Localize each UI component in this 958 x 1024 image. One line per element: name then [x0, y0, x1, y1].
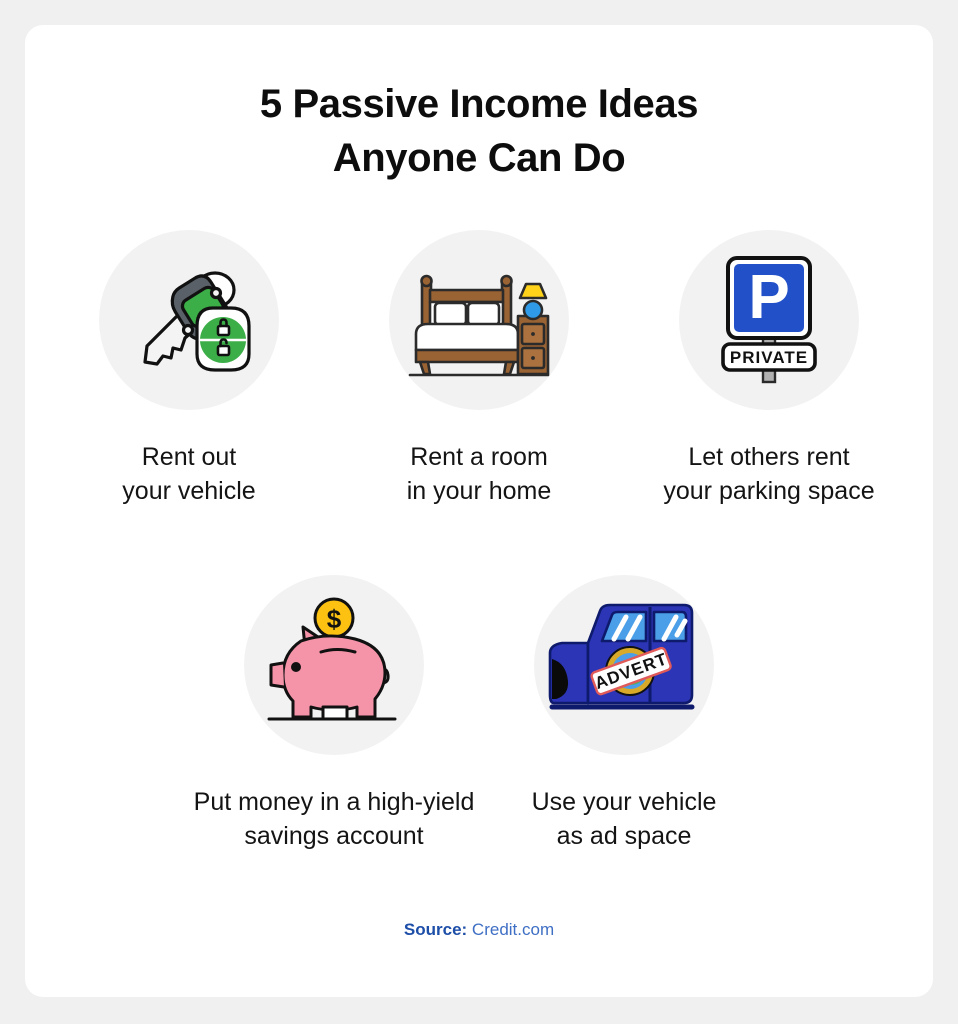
caption-line-2: savings account: [194, 819, 475, 853]
parking-sign-icon: P PRIVATE: [679, 230, 859, 410]
car-key-icon: [99, 230, 279, 410]
parking-letter: P: [748, 263, 789, 332]
caption-line-1: Let others rent: [663, 440, 874, 474]
idea-caption: Rent out your vehicle: [122, 440, 255, 508]
caption-line-1: Rent out: [122, 440, 255, 474]
source-label: Source:: [404, 920, 467, 939]
title-line-2: Anyone Can Do: [25, 131, 933, 185]
source-value[interactable]: Credit.com: [472, 920, 554, 939]
parking-plate-text: PRIVATE: [730, 348, 808, 367]
idea-card-rent-room: Rent a room in your home: [334, 230, 624, 508]
page-title: 5 Passive Income Ideas Anyone Can Do: [25, 77, 933, 185]
infographic-card: 5 Passive Income Ideas Anyone Can Do: [25, 25, 933, 997]
title-line-1: 5 Passive Income Ideas: [25, 77, 933, 131]
caption-line-2: your vehicle: [122, 474, 255, 508]
coin-symbol: $: [327, 604, 342, 634]
caption-line-1: Rent a room: [407, 440, 552, 474]
caption-line-2: in your home: [407, 474, 552, 508]
idea-card-parking-space: P PRIVATE Let others rent your parking s…: [624, 230, 914, 508]
caption-line-1: Use your vehicle: [532, 785, 717, 819]
idea-caption: Rent a room in your home: [407, 440, 552, 508]
car-advert-icon: ADVERT: [534, 575, 714, 755]
idea-card-savings-account: $: [189, 575, 479, 853]
ideas-row-2: $: [25, 575, 933, 853]
idea-caption: Let others rent your parking space: [663, 440, 874, 508]
caption-line-2: as ad space: [532, 819, 717, 853]
ideas-row-1: Rent out your vehicle: [25, 230, 933, 508]
idea-caption: Put money in a high-yield savings accoun…: [194, 785, 475, 853]
source-credit: Source: Credit.com: [25, 920, 933, 940]
idea-card-car-ad-space: ADVERT Use your vehicle as ad space: [479, 575, 769, 853]
piggy-bank-icon: $: [244, 575, 424, 755]
idea-caption: Use your vehicle as ad space: [532, 785, 717, 853]
caption-line-1: Put money in a high-yield: [194, 785, 475, 819]
idea-card-rent-vehicle: Rent out your vehicle: [44, 230, 334, 508]
bed-icon: [389, 230, 569, 410]
caption-line-2: your parking space: [663, 474, 874, 508]
